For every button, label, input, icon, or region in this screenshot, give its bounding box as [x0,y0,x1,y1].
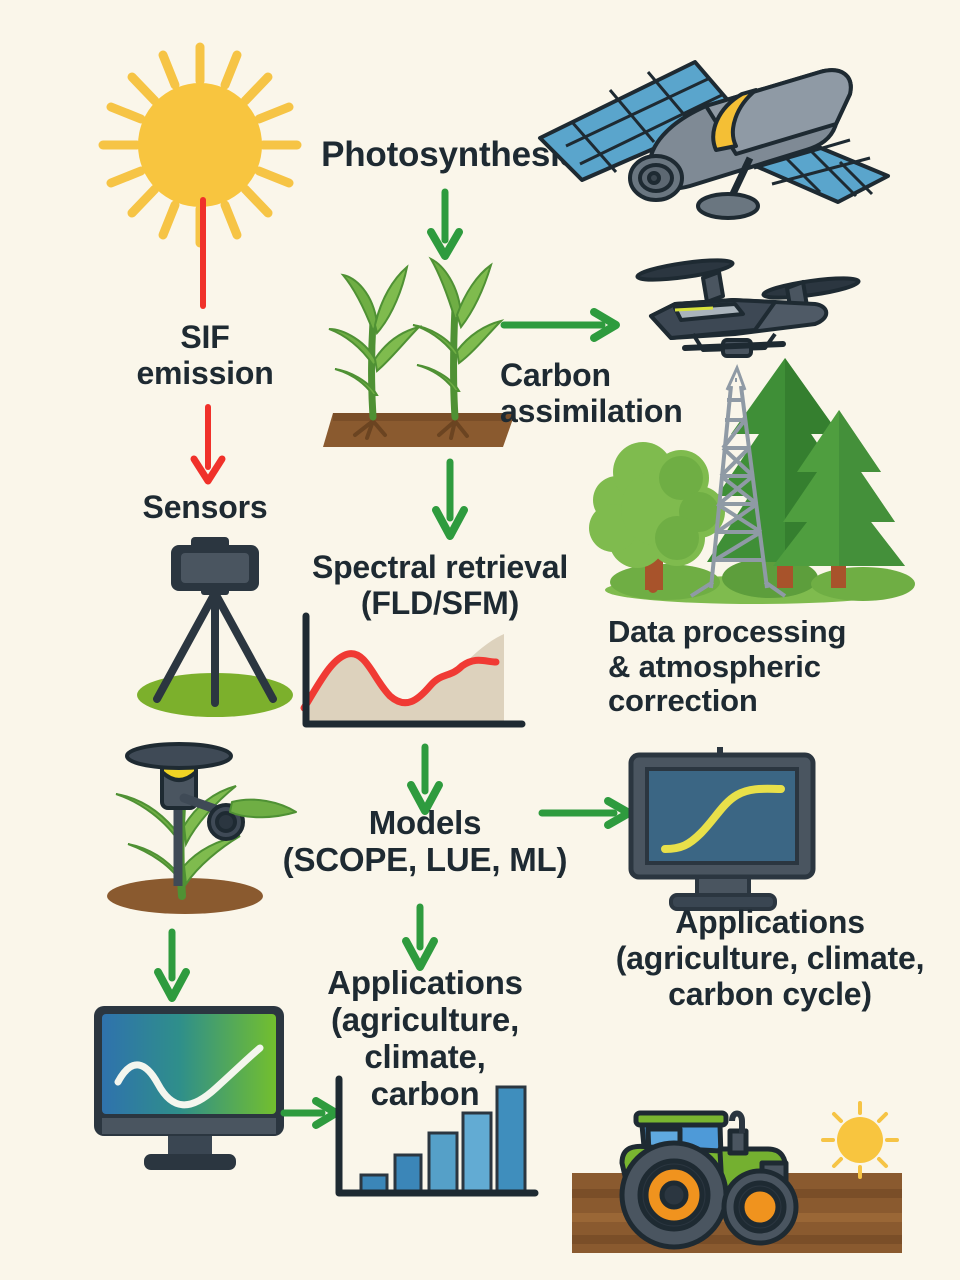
sensor-to-monitor-arrow [152,930,192,1002]
monitor-gradient-icon [88,1000,298,1175]
infographic-canvas: SIF emission Sensors Photosynthesis [0,0,960,1280]
forest-flux-tower-icon [595,350,915,610]
satellite-icon [520,50,920,230]
sif-emission-arrow-upper [193,198,213,308]
monitor-curve-icon [625,745,825,910]
seedlings-icon [315,235,525,455]
bar-chart [325,1075,540,1210]
carbon-assimilation-arrow [502,305,622,345]
label-data-processing: Data processing & atmospheric correction [608,615,938,719]
label-sensors: Sensors [110,490,300,526]
label-models: Models (SCOPE, LUE, ML) [265,805,585,879]
drone-icon [615,248,865,363]
label-applications-right: Applications (agriculture, climate, carb… [595,905,945,1012]
small-sun-icon [823,1103,897,1177]
models-to-applications-arrow [400,905,440,971]
tractor-icon [570,1085,930,1260]
sif-to-sensors-arrow [190,405,226,485]
models-to-monitor-arrow [540,795,635,831]
label-sif-emission: SIF emission [100,320,310,392]
spectral-curve-chart [290,600,540,740]
seedlings-to-spectral-arrow [430,460,470,540]
